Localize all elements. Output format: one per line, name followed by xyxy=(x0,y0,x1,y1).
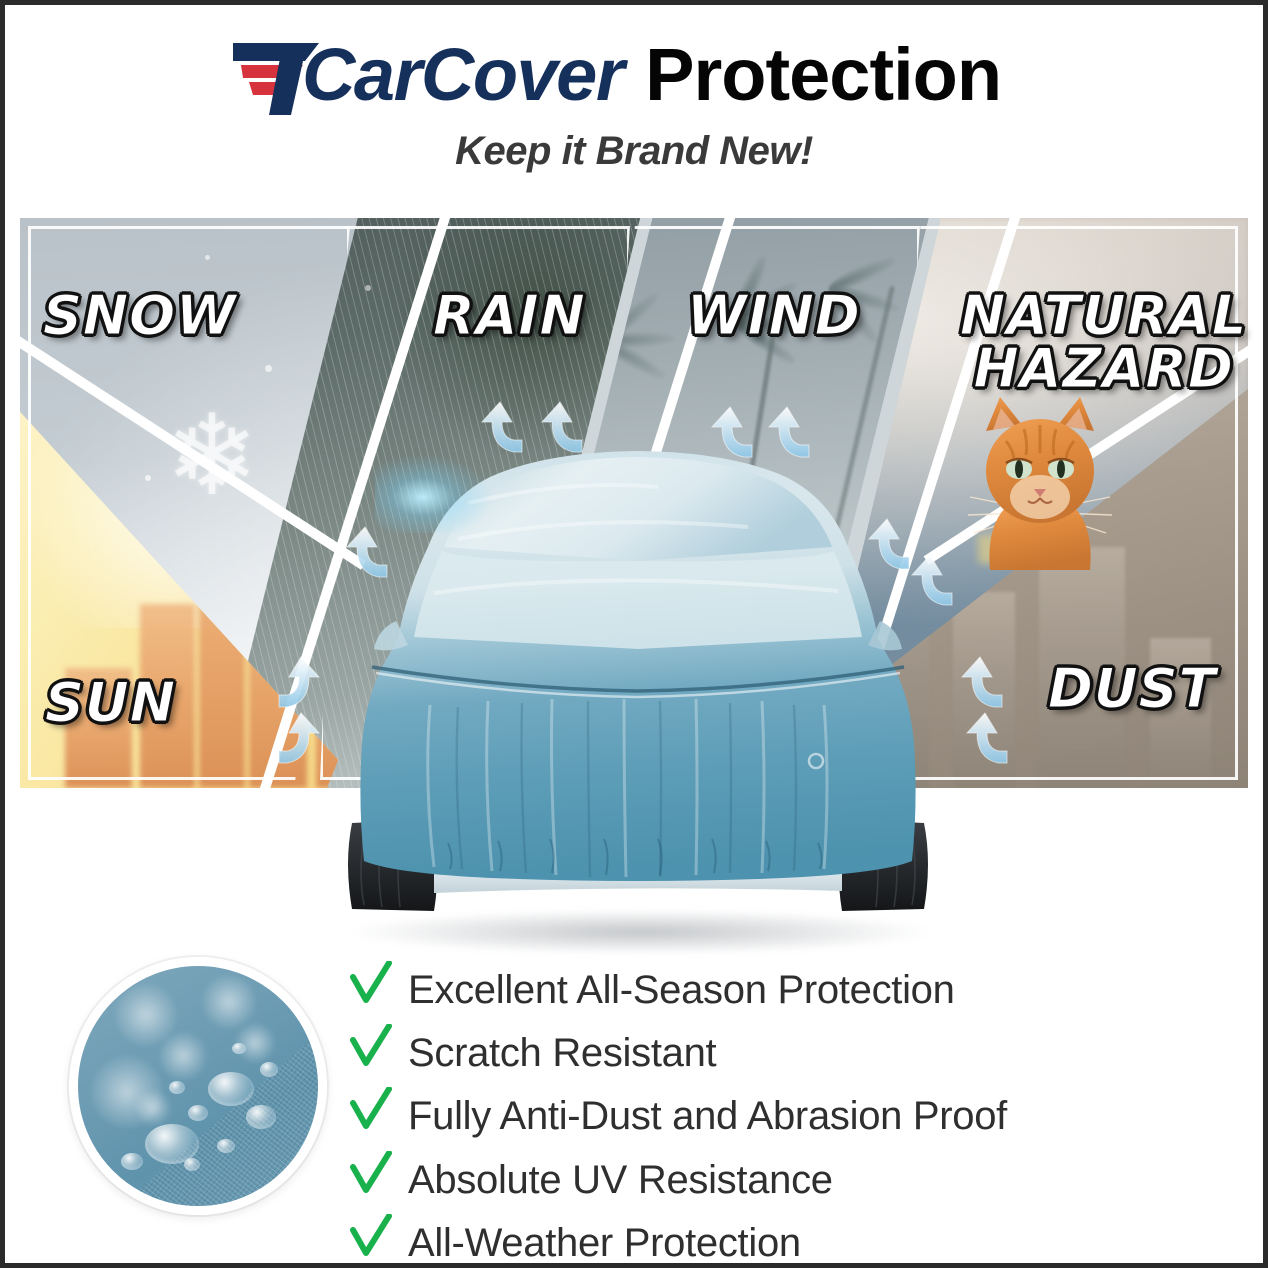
label-rain: RAIN xyxy=(433,290,586,343)
water-droplet xyxy=(184,1158,200,1171)
list-item: Excellent All-Season Protection xyxy=(350,957,1190,1014)
checkmark-icon xyxy=(350,1214,392,1260)
label-snow: SNOW xyxy=(43,290,237,343)
feature-label: Absolute UV Resistance xyxy=(408,1157,833,1204)
list-item: Fully Anti-Dust and Abrasion Proof xyxy=(350,1083,1190,1140)
snow-speck xyxy=(145,475,151,481)
snowflake-icon: ❄ xyxy=(165,400,259,512)
water-droplet xyxy=(208,1072,254,1106)
infographic-page: iCarCover Protection Keep it Brand New! xyxy=(0,0,1268,1268)
cat-icon xyxy=(960,385,1120,570)
checkmark-icon xyxy=(350,1024,392,1070)
bokeh-spot xyxy=(160,1033,206,1079)
label-wind: WIND xyxy=(687,290,861,343)
snow-speck xyxy=(100,305,106,311)
label-sun: SUN xyxy=(45,677,176,730)
water-droplet xyxy=(217,1139,235,1153)
brand-name-secondary: Protection xyxy=(645,38,1001,112)
checkmark-icon xyxy=(350,1151,392,1197)
water-droplet xyxy=(169,1081,185,1094)
brand-row: iCarCover Protection xyxy=(231,27,1037,123)
water-beading-fabric-closeup xyxy=(69,957,327,1215)
feature-list: Excellent All-Season Protection Scratch … xyxy=(350,957,1190,1268)
label-dust: DUST xyxy=(1048,663,1216,716)
snow-speck xyxy=(205,255,210,260)
checkmark-icon xyxy=(350,961,392,1007)
bokeh-spot xyxy=(116,985,176,1045)
water-droplet xyxy=(188,1105,208,1121)
bounce-off-arrow-icon xyxy=(277,655,321,717)
feature-label: Excellent All-Season Protection xyxy=(408,967,955,1014)
tagline: Keep it Brand New! xyxy=(455,129,813,174)
header: iCarCover Protection Keep it Brand New! xyxy=(5,27,1263,174)
feature-label: All-Weather Protection xyxy=(408,1220,801,1267)
bokeh-spot xyxy=(203,976,255,1028)
feature-label: Scratch Resistant xyxy=(408,1030,716,1077)
water-droplet xyxy=(121,1153,143,1170)
bounce-off-arrow-icon xyxy=(965,711,1009,773)
bounce-off-arrow-icon xyxy=(277,711,321,773)
cover-highlight-glint xyxy=(375,453,495,533)
bokeh-spot xyxy=(136,1091,170,1125)
list-item: All-Weather Protection xyxy=(350,1210,1190,1267)
snow-speck xyxy=(305,525,310,530)
bounce-off-arrow-icon xyxy=(960,655,1004,717)
list-item: Absolute UV Resistance xyxy=(350,1147,1190,1204)
label-natural-hazard: NATURAL HAZARD xyxy=(960,290,1247,396)
checkmark-icon xyxy=(350,1087,392,1133)
brand-name-primary: iCarCover xyxy=(283,38,623,112)
water-droplet xyxy=(232,1043,246,1054)
list-item: Scratch Resistant xyxy=(350,1020,1190,1077)
snow-speck xyxy=(265,365,272,372)
snow-speck xyxy=(365,285,371,291)
feature-label: Fully Anti-Dust and Abrasion Proof xyxy=(408,1093,1007,1140)
